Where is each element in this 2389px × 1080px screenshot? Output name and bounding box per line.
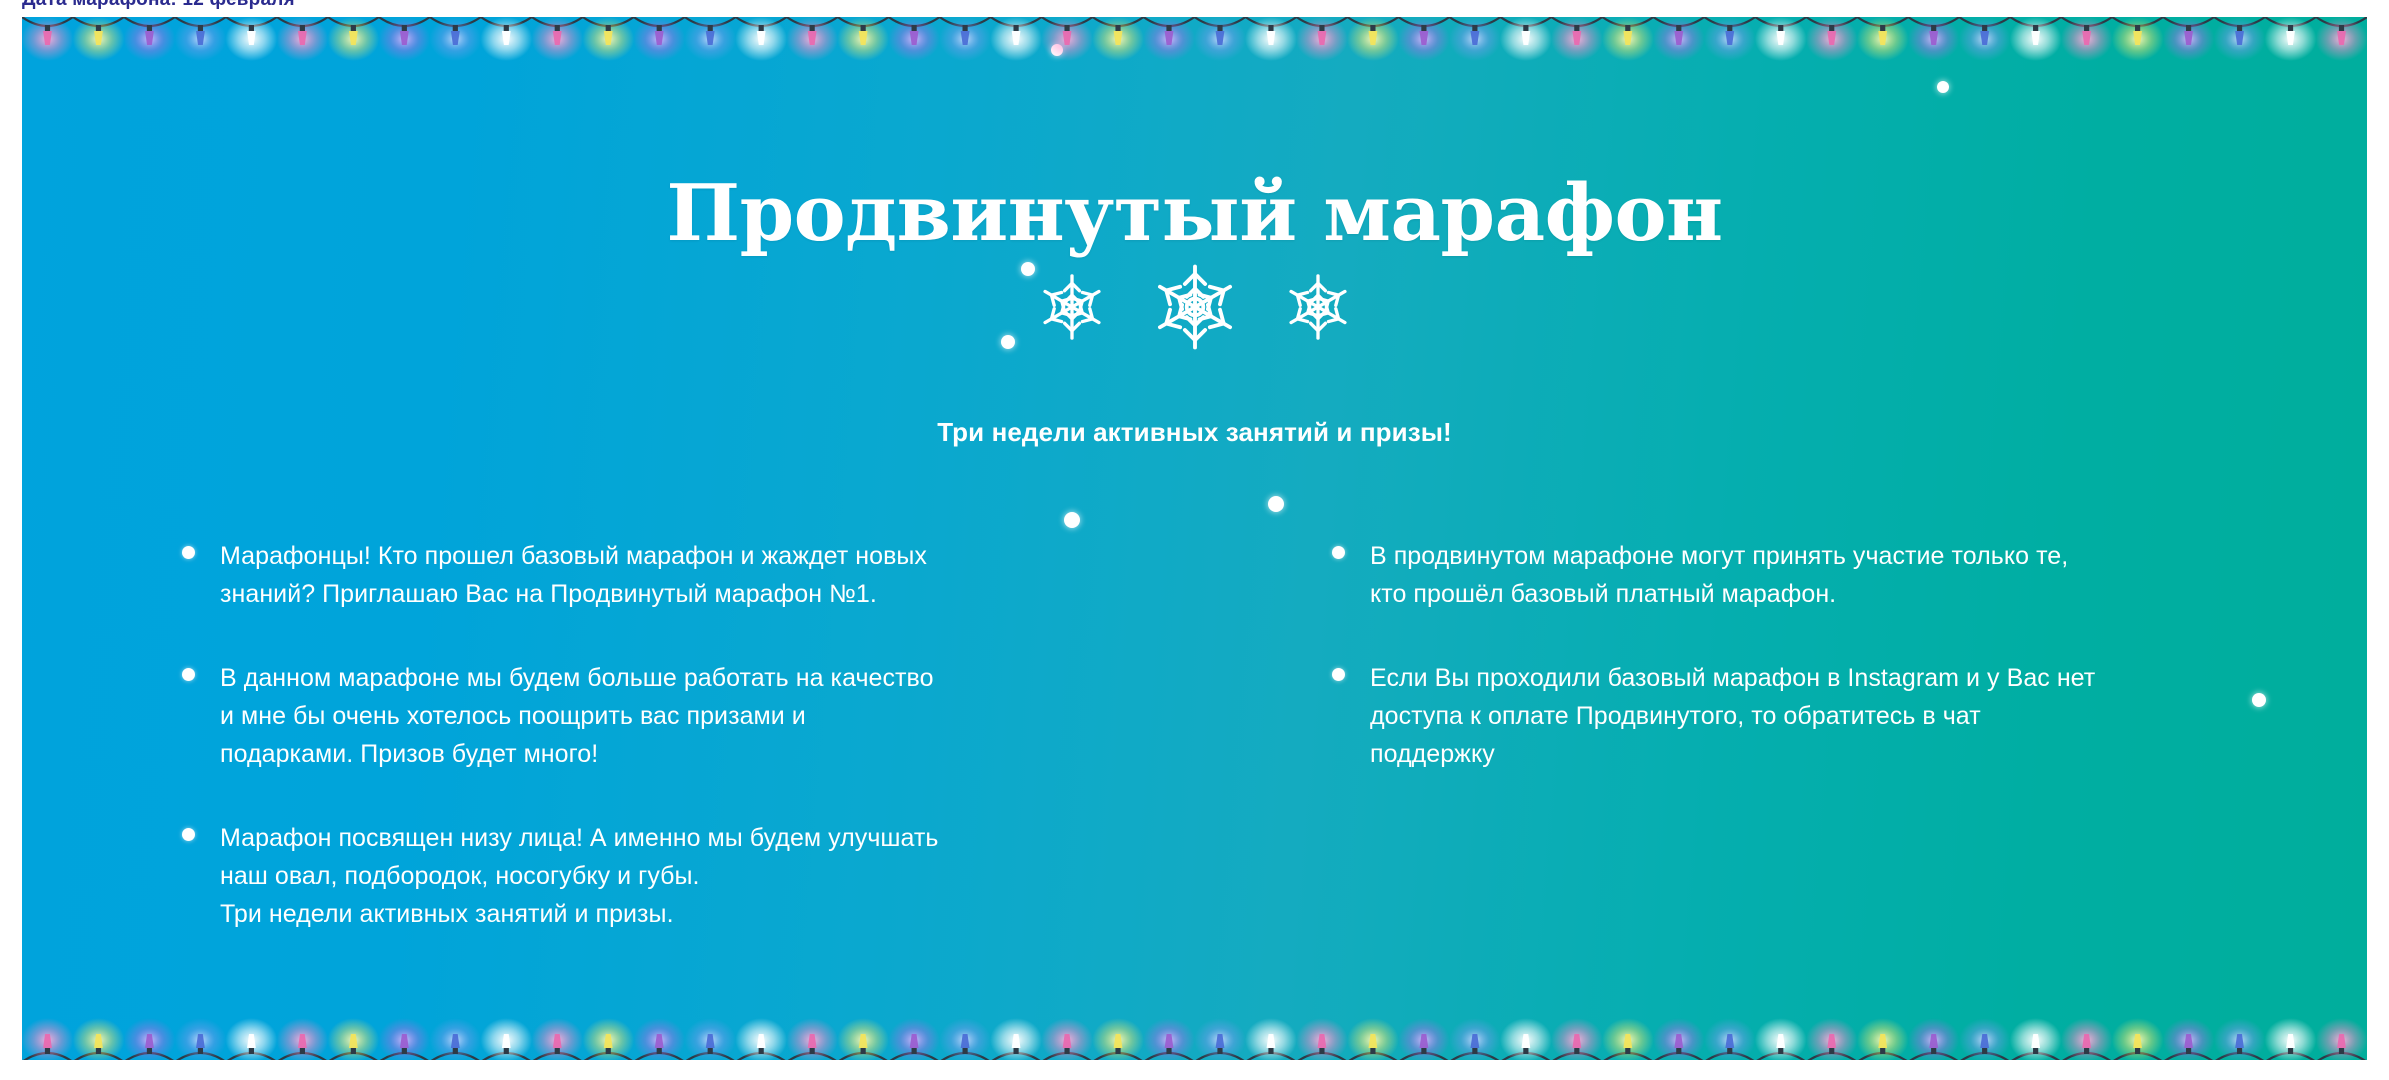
bulb-glow [888,1018,940,1060]
bulb-socket [2237,25,2242,31]
bulb-socket [2186,1048,2191,1054]
bulb-glow [1551,17,1603,61]
bulb-socket [96,1048,101,1054]
bulb [1776,31,1785,45]
bulb [1521,1034,1530,1048]
bulb [298,1034,307,1048]
bulb [1420,31,1429,45]
bulb-glow [582,17,634,61]
bulb [1980,1034,1989,1048]
bulb [1470,31,1479,45]
bulb-glow [990,1018,1042,1060]
bullet-item: Если Вы проходили базовый марафон в Inst… [1332,659,2327,773]
bulb-glow [1755,1018,1807,1060]
bulb [1470,1034,1479,1048]
bulb [1674,31,1683,45]
bulb-glow [582,1018,634,1060]
bullet-dot-icon [1332,546,1345,559]
bulb-glow [327,1018,379,1060]
garland-bottom-svg [22,1018,2367,1060]
bulb-glow [72,17,124,61]
bulb [1165,1034,1174,1048]
bulb [604,31,613,45]
bulb [1776,1034,1785,1048]
bulb [2082,31,2091,45]
bulb-glow [684,17,736,61]
bulb-glow [2010,1018,2062,1060]
bulb-socket [1217,25,1222,31]
bulb-glow [2061,17,2113,61]
bulb-socket [2033,1048,2038,1054]
bulb-socket [1013,25,1018,31]
bulb-glow [1806,1018,1858,1060]
bulb [1623,31,1632,45]
bulb [451,1034,460,1048]
bulb [553,1034,562,1048]
bullet-line: подарками. Призов будет много! [220,735,1162,773]
bulb-socket [2084,1048,2089,1054]
bulb-glow [22,17,73,61]
bulb-socket [504,25,509,31]
bulb-socket [147,25,152,31]
bullet-line: Если Вы проходили базовый марафон в Inst… [1370,659,2327,697]
bullet-line: Три недели активных занятий и призы. [220,895,1162,933]
bulb [757,1034,766,1048]
bulb-socket [1319,25,1324,31]
bulb-socket [1676,1048,1681,1054]
bulb [2031,31,2040,45]
bullet-dot-icon [182,668,195,681]
particle-dot [1064,512,1080,528]
bulb-socket [249,1048,254,1054]
bulb-socket [453,25,458,31]
bulb-socket [1064,1048,1069,1054]
bulb [1980,31,1989,45]
bulb-socket [1574,25,1579,31]
bulb-socket [2339,25,2344,31]
bulb-socket [1013,1048,1018,1054]
garland-top-icon [22,17,2367,61]
bulb-socket [504,1048,509,1054]
bulb-socket [1166,1048,1171,1054]
bullet-line: В продвинутом марафоне могут принять уча… [1370,537,2327,575]
bulb-socket [1982,25,1987,31]
bulb [859,31,868,45]
bulb [757,31,766,45]
bulb-socket [96,25,101,31]
bulb-socket [198,1048,203,1054]
bulb-socket [2135,25,2140,31]
bullet-item: Марафон посвящен низу лица! А именно мы … [182,819,1162,933]
bulb-glow [1806,17,1858,61]
snowflake-center-icon [1149,261,1241,353]
bulb-socket [555,1048,560,1054]
bulb [1929,31,1938,45]
bulb [1318,1034,1327,1048]
slide-date-caption: Дата марафона: 12 февраля [22,0,295,11]
bulb [400,1034,409,1048]
bulb [1369,31,1378,45]
bulb-glow [2316,1018,2367,1060]
bulb-glow [1041,17,1093,61]
particle-dot [1268,496,1284,512]
bulb-glow [1143,1018,1195,1060]
bulb [604,1034,613,1048]
bullet-line: знаний? Приглашаю Вас на Продвинутый мар… [220,575,1162,613]
bulb-socket [606,1048,611,1054]
bulb-socket [1727,25,1732,31]
bulb-socket [2237,1048,2242,1054]
bulb-glow [1959,17,2011,61]
bulb-glow [378,17,430,61]
bulb-socket [2033,25,2038,31]
bulb-socket [2135,1048,2140,1054]
bulb-glow [633,17,685,61]
bulb-socket [657,1048,662,1054]
bulb-glow [1245,1018,1297,1060]
bulb-glow [786,17,838,61]
bulb-glow [276,1018,328,1060]
bulb-socket [402,25,407,31]
bulb-glow [990,17,1042,61]
bulb-socket [453,1048,458,1054]
bulb-socket [861,25,866,31]
bulb-glow [2112,17,2164,61]
bulb-glow [327,17,379,61]
bulb-socket [1268,1048,1273,1054]
bulb-glow [2265,1018,2317,1060]
bulb-glow [531,1018,583,1060]
bulb-glow [480,1018,532,1060]
page-title: Продвинутый марафон [22,173,2367,255]
bulb-socket [249,25,254,31]
bulb-socket [1829,25,1834,31]
bulb [1420,1034,1429,1048]
bulb-socket [1421,1048,1426,1054]
bulb-glow [2316,17,2367,61]
bulb-glow [276,17,328,61]
slide-canvas: Продвинутый марафон [22,17,2367,1060]
bulb-glow [1653,1018,1705,1060]
bulb-glow [684,1018,736,1060]
bulb [94,1034,103,1048]
bullet-item: В данном марафоне мы будем больше работа… [182,659,1162,773]
bulb-glow [378,1018,430,1060]
bullet-dot-icon [182,546,195,559]
bulb [2184,1034,2193,1048]
bulb-socket [912,25,917,31]
bulb [94,31,103,45]
bulb-glow [786,1018,838,1060]
bulb-glow [1449,1018,1501,1060]
bulb-glow [1296,1018,1348,1060]
bulb [43,31,52,45]
bullet-columns: Марафонцы! Кто прошел базовый марафон и … [22,537,2367,933]
bulb-socket [1625,1048,1630,1054]
bulb-socket [1319,1048,1324,1054]
bulb-socket [1115,25,1120,31]
bulb-glow [1398,17,1450,61]
bulb-glow [1041,1018,1093,1060]
bulb-socket [1676,25,1681,31]
bulb-glow [1296,17,1348,61]
bulb [43,1034,52,1048]
bulb-socket [300,1048,305,1054]
bulb [1063,31,1072,45]
bulb [1521,31,1530,45]
bulb [2235,31,2244,45]
bulb [706,31,715,45]
bulb [910,31,919,45]
garland-wire [22,17,2367,26]
bulb-glow [1143,17,1195,61]
bulb [1572,31,1581,45]
bulb-socket [1115,1048,1120,1054]
bulb-glow [1092,17,1144,61]
bulb [1216,1034,1225,1048]
bulb [400,31,409,45]
bulb-glow [429,17,481,61]
bulb-socket [147,1048,152,1054]
bulb-socket [1217,1048,1222,1054]
bulb-glow [123,1018,175,1060]
bulb-socket [810,25,815,31]
bulb [2082,1034,2091,1048]
bulb-glow [1704,1018,1756,1060]
bulb-socket [351,25,356,31]
bulb [2133,1034,2142,1048]
bulb-glow [1908,1018,1960,1060]
bulb-glow [888,17,940,61]
bulb-glow [939,17,991,61]
bullet-item: Марафонцы! Кто прошел базовый марафон и … [182,537,1162,613]
bullet-line: и мне бы очень хотелось поощрить вас при… [220,697,1162,735]
bulb-socket [2288,1048,2293,1054]
bulb [1369,1034,1378,1048]
bulb-glow [2061,1018,2113,1060]
bulb [298,31,307,45]
bullet-column-left: Марафонцы! Кто прошел базовый марафон и … [22,537,1202,933]
bulb-glow [1092,1018,1144,1060]
bulb-socket [1523,1048,1528,1054]
bulb-socket [402,1048,407,1054]
bulb [2235,1034,2244,1048]
bulb [2286,1034,2295,1048]
bulb-glow [1755,17,1807,61]
bulb-glow [735,1018,787,1060]
bullet-line: кто прошёл базовый платный марафон. [1370,575,2327,613]
bullet-line: Марафон посвящен низу лица! А именно мы … [220,819,1162,857]
bulb-socket [1625,25,1630,31]
bulb-socket [1523,25,1528,31]
bulb-socket [1829,1048,1834,1054]
bulb [2286,31,2295,45]
bulb-socket [657,25,662,31]
bulb [859,1034,868,1048]
bulb-glow [72,1018,124,1060]
bulb-socket [1370,1048,1375,1054]
bulb [145,1034,154,1048]
bulb [1063,1034,1072,1048]
bulb-glow [1857,1018,1909,1060]
bulb-socket [1472,25,1477,31]
bulb-socket [759,25,764,31]
slide-subtitle: Три недели активных занятий и призы! [22,417,2367,448]
garland-top-svg [22,17,2367,61]
bulb [1318,31,1327,45]
bulb [1725,31,1734,45]
bulb-socket [2339,1048,2344,1054]
bulb-socket [1574,1048,1579,1054]
bulb-socket [351,1048,356,1054]
bulb-glow [1908,17,1960,61]
bulb [247,1034,256,1048]
bulb [196,31,205,45]
bullet-item: В продвинутом марафоне могут принять уча… [1332,537,2327,613]
bulb-glow [2214,1018,2266,1060]
bulb-socket [606,25,611,31]
bulb-glow [2163,1018,2215,1060]
bulb [655,31,664,45]
bulb-socket [1064,25,1069,31]
bulb-glow [22,1018,73,1060]
bulb [1165,31,1174,45]
bulb-socket [198,25,203,31]
bulb [2031,1034,2040,1048]
bulb-glow [1347,17,1399,61]
bulb-socket [45,25,50,31]
bulb [655,1034,664,1048]
bulb [1929,1034,1938,1048]
bulb [502,1034,511,1048]
bulb [1572,1034,1581,1048]
bulb-glow [2214,17,2266,61]
bulb-socket [708,1048,713,1054]
bulb [1674,1034,1683,1048]
bulb-socket [1778,1048,1783,1054]
bulb-glow [225,17,277,61]
bulb-socket [708,25,713,31]
bulb-glow [531,17,583,61]
particle-dot [1051,44,1063,56]
bullet-column-right: В продвинутом марафоне могут принять уча… [1202,537,2367,933]
bulb-glow [2265,17,2317,61]
bullet-line: наш овал, подбородок, носогубку и губы. [220,857,1162,895]
bulb [451,31,460,45]
bulb-glow [429,1018,481,1060]
bulb-socket [759,1048,764,1054]
bulb-socket [1166,25,1171,31]
bulb [2133,31,2142,45]
bulb [961,1034,970,1048]
bulb-socket [912,1048,917,1054]
bulb-socket [861,1048,866,1054]
snowflake-row [22,261,2367,353]
bulb [808,31,817,45]
bulb-glow [1857,17,1909,61]
garland-bottom-icon [22,1018,2367,1060]
bulb-socket [555,25,560,31]
bulb-socket [1421,25,1426,31]
bulb-glow [174,17,226,61]
bulb-glow [2163,17,2215,61]
bulb [1114,1034,1123,1048]
bulb [2337,31,2346,45]
bulb-socket [1727,1048,1732,1054]
bulb [1216,31,1225,45]
bulb-socket [1931,25,1936,31]
bulb [349,31,358,45]
bulb-glow [1959,1018,2011,1060]
bulb-socket [300,25,305,31]
garland-wire [22,1053,2367,1060]
bulb-glow [1398,1018,1450,1060]
bulb-glow [1500,1018,1552,1060]
bulb [1267,1034,1276,1048]
bulb [1827,31,1836,45]
bulb [1725,1034,1734,1048]
bulb-socket [1880,25,1885,31]
bulb-socket [962,25,967,31]
bullet-line: Марафонцы! Кто прошел базовый марафон и … [220,537,1162,575]
bulb [1114,31,1123,45]
bulb [1012,31,1021,45]
bulb [2184,31,2193,45]
bulb [1012,1034,1021,1048]
bulb-glow [1551,1018,1603,1060]
bulb-socket [1370,25,1375,31]
bulb [1878,1034,1887,1048]
bulb-glow [1245,17,1297,61]
bulb-glow [2010,17,2062,61]
bulb-glow [1347,1018,1399,1060]
bulb [502,31,511,45]
snowflake-right-icon [1281,270,1355,344]
bulb-glow [837,1018,889,1060]
bulb [196,1034,205,1048]
bulb-glow [123,17,175,61]
bulb-socket [810,1048,815,1054]
bulb [808,1034,817,1048]
bulb-glow [174,1018,226,1060]
bullet-dot-icon [182,828,195,841]
snowflake-left-icon [1035,270,1109,344]
bulb-glow [1704,17,1756,61]
bulb-socket [2288,25,2293,31]
bulb-glow [633,1018,685,1060]
bulb-glow [225,1018,277,1060]
bulb-glow [939,1018,991,1060]
bulb [349,1034,358,1048]
bulb-socket [1880,1048,1885,1054]
bullet-line: В данном марафоне мы будем больше работа… [220,659,1162,697]
bulb-glow [1194,1018,1246,1060]
bulb-glow [2112,1018,2164,1060]
bulb-glow [837,17,889,61]
bulb-socket [1931,1048,1936,1054]
bullet-line: поддержку [1370,735,2327,773]
bulb [247,31,256,45]
bulb-glow [480,17,532,61]
bulb [553,31,562,45]
bulb-glow [1194,17,1246,61]
bulb-glow [735,17,787,61]
bullet-dot-icon [1332,668,1345,681]
bulb [1267,31,1276,45]
slide-root: Дата марафона: 12 февраля [0,0,2389,1080]
bulb [910,1034,919,1048]
bulb-glow [1602,1018,1654,1060]
